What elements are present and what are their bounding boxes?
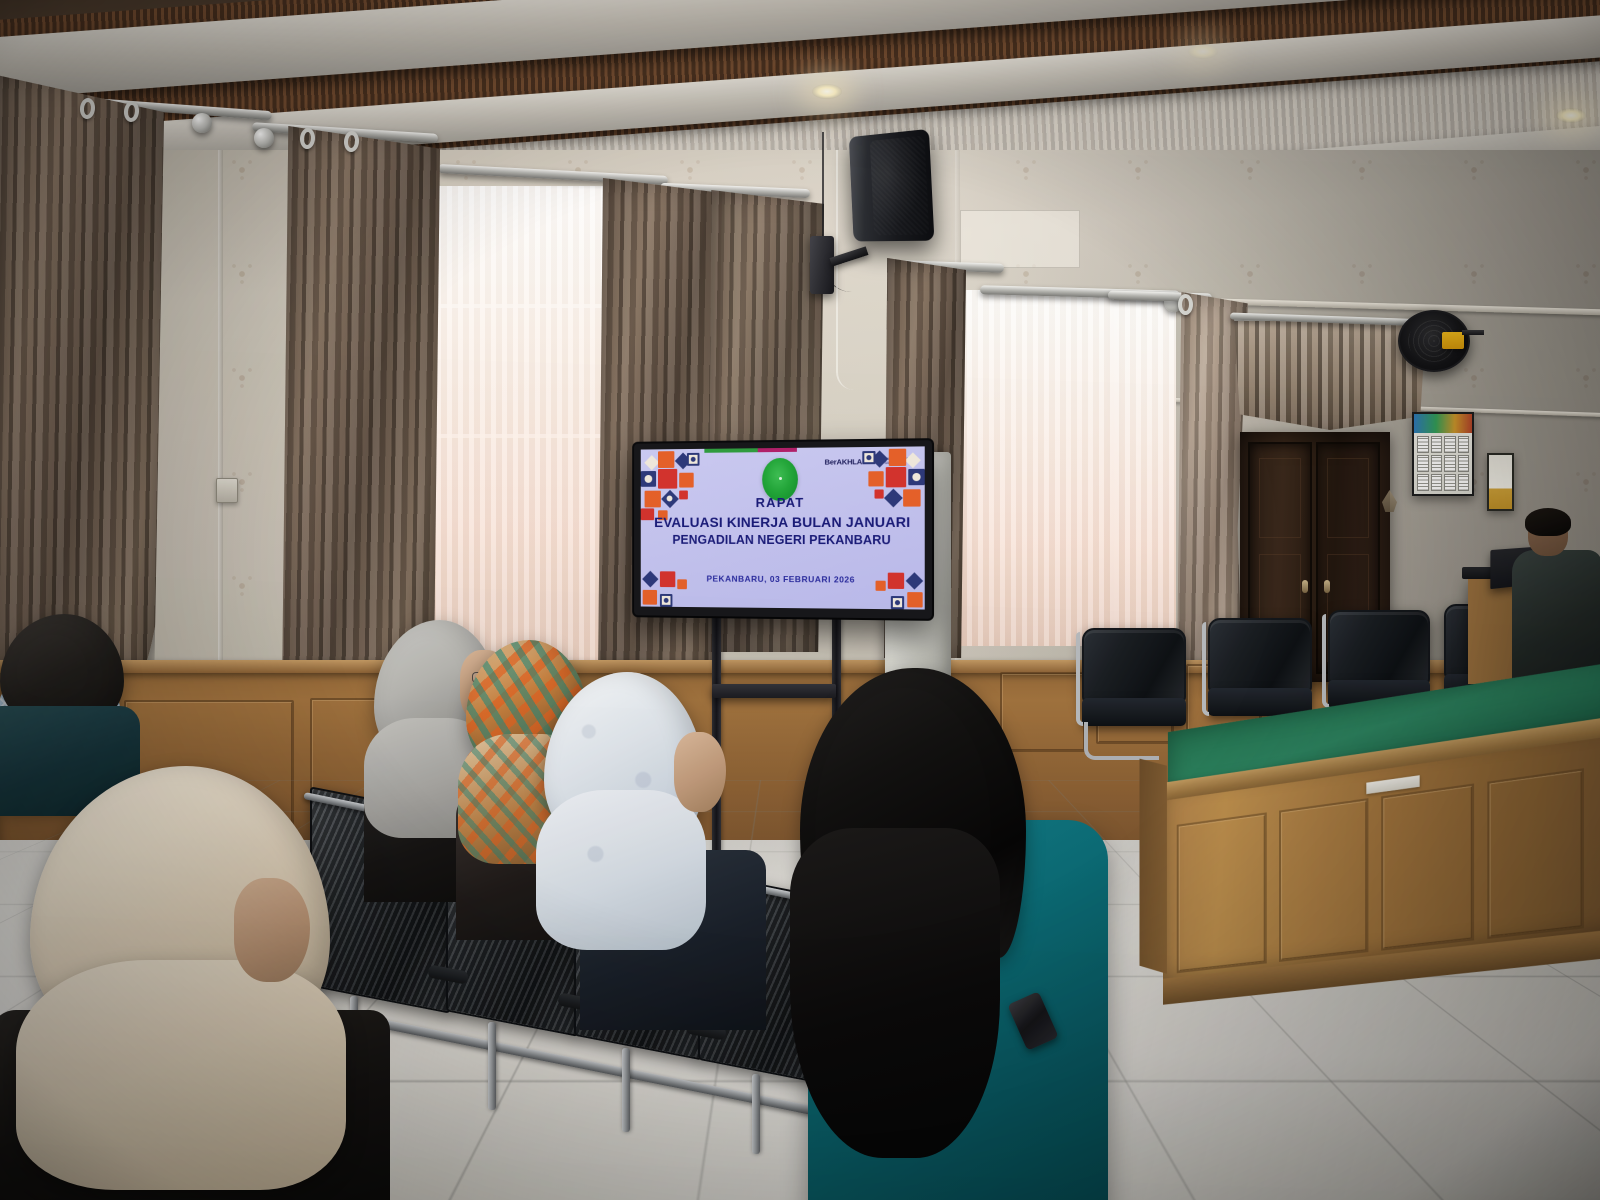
hijab-drape	[536, 790, 706, 950]
calendar-header-image	[1414, 414, 1472, 433]
calendar-month-cell	[1431, 436, 1443, 453]
calendar-month-cell	[1417, 455, 1429, 472]
batik-circle	[866, 455, 871, 460]
speaker-grille	[870, 135, 929, 235]
slide-title-block: RAPAT EVALUASI KINERJA BULAN JANUARI PEN…	[641, 493, 925, 549]
batik-circle	[645, 475, 653, 483]
batik-square	[658, 451, 674, 468]
wall-paper-patch	[960, 210, 1080, 268]
person-hair	[1525, 508, 1571, 536]
slide-title-line3: PENGADILAN NEGERI PEKANBARU	[641, 532, 925, 550]
wall-mounted-tv[interactable]: BerAKHLAK ★ # BANGGA MELAYANI BANGSA	[634, 440, 932, 619]
door-panel	[1327, 458, 1369, 538]
chair-leg	[488, 1022, 496, 1110]
attendee-white-hijab	[534, 672, 754, 972]
batik-diamond	[905, 452, 921, 468]
attendee-front-left	[10, 760, 410, 1200]
chair-backrest	[1208, 618, 1312, 694]
electrical-box	[216, 478, 238, 503]
calendar-month-grid	[1417, 436, 1469, 491]
calendar-month-cell	[1417, 474, 1429, 491]
staff-member-at-laptop	[1512, 512, 1600, 692]
fan-mount-arm	[1462, 330, 1484, 335]
ceiling-downlight	[812, 84, 842, 99]
hijab-drape	[16, 960, 346, 1190]
speaker-wall-bracket	[810, 236, 834, 294]
person-hair-length	[790, 828, 1000, 1158]
curtain-finial	[254, 128, 274, 148]
batik-diamond	[644, 455, 659, 470]
slide-title-line2: EVALUASI KINERJA BULAN JANUARI	[641, 513, 925, 532]
calendar-month-cell	[1458, 436, 1470, 453]
door-panel	[1259, 458, 1301, 538]
calendar-month-cell	[1458, 455, 1470, 472]
calendar-month-cell	[1444, 474, 1456, 491]
door-handle[interactable]	[1302, 580, 1308, 593]
slide-title-line1: RAPAT	[641, 493, 925, 513]
batik-square	[886, 467, 906, 487]
curtain-finial	[192, 113, 212, 133]
wall-mounted-fan[interactable]	[1398, 310, 1470, 372]
tv-screen: BerAKHLAK ★ # BANGGA MELAYANI BANGSA	[641, 446, 925, 609]
fan-label-tag	[1442, 332, 1464, 349]
chair-chrome-frame	[1322, 614, 1329, 708]
bench-wood-panel	[1381, 783, 1474, 950]
batik-circle	[664, 598, 669, 603]
batik-square	[868, 471, 883, 486]
calendar-month-cell	[1431, 474, 1443, 491]
batik-square	[889, 449, 906, 466]
ceiling-downlight	[1556, 108, 1586, 123]
person-face	[674, 732, 726, 812]
chair-leg	[622, 1048, 630, 1132]
chair-leg	[752, 1074, 760, 1154]
batik-circle	[691, 457, 696, 462]
batik-circle	[895, 600, 900, 605]
slide-date-line: PEKANBARU, 03 FEBRUARI 2026	[641, 573, 925, 585]
curtain-grommet	[1178, 294, 1193, 315]
curtain-panel	[282, 126, 440, 694]
wall-calendar	[1412, 412, 1474, 496]
batik-square	[907, 592, 922, 607]
calendar-month-cell	[1458, 474, 1470, 491]
door-handle[interactable]	[1324, 580, 1330, 593]
calendar-month-cell	[1431, 455, 1443, 472]
calendar-month-cell	[1444, 436, 1456, 453]
pa-speaker	[849, 129, 935, 242]
bench-wood-panel	[1487, 768, 1584, 939]
window-glow	[956, 290, 1114, 646]
batik-circle	[912, 473, 920, 481]
judges-bench	[1163, 686, 1600, 1013]
slide-top-accent-bar	[704, 448, 797, 453]
batik-square	[643, 590, 657, 605]
calendar-month-cell	[1417, 436, 1429, 453]
person-face	[234, 878, 310, 982]
window-4	[1114, 300, 1176, 650]
ceiling-downlight	[1188, 44, 1218, 59]
window-glow	[1114, 300, 1176, 650]
batik-square	[658, 469, 677, 489]
photo-scene: BerAKHLAK ★ # BANGGA MELAYANI BANGSA	[0, 0, 1600, 1200]
attendee-teal-blazer	[790, 668, 1130, 1200]
wall-notice-board	[1487, 453, 1514, 511]
chair-backrest	[1328, 610, 1430, 686]
batik-square	[679, 473, 694, 488]
bench-wood-panel	[1279, 798, 1368, 962]
calendar-month-cell	[1444, 455, 1456, 472]
window-3	[956, 290, 1114, 646]
